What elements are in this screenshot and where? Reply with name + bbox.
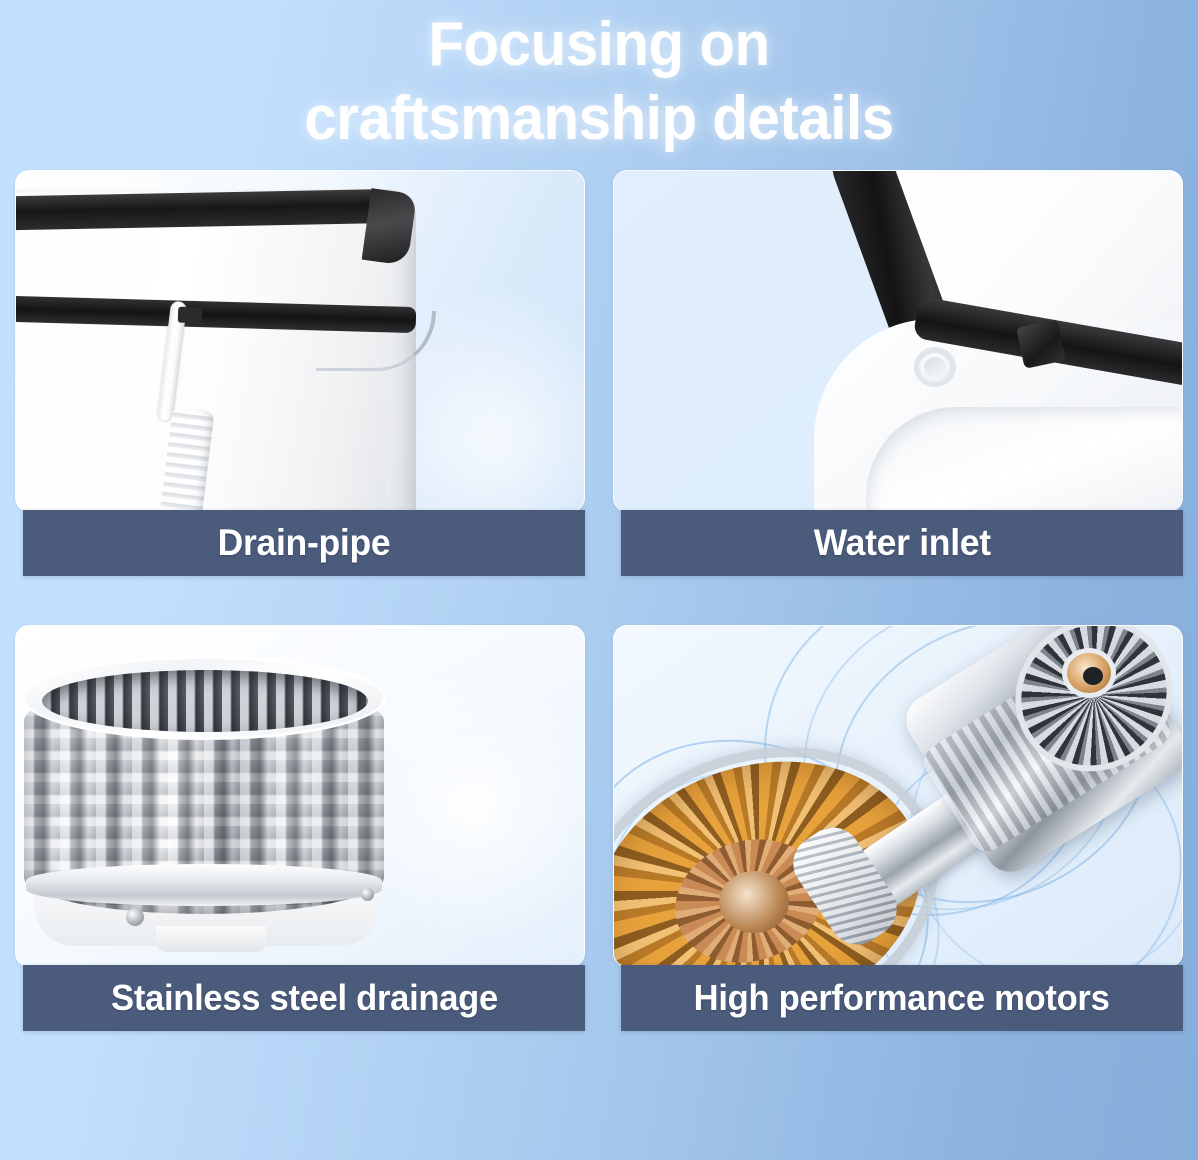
caption-bar-drain-pipe: Drain-pipe [23, 510, 585, 576]
drum-bottom-band [26, 864, 382, 906]
stator-core [719, 871, 789, 933]
page-title: Focusing on craftsmanship details [0, 0, 1198, 156]
caption-label: High performance motors [694, 978, 1110, 1018]
caption-bar-water-inlet: Water inlet [621, 510, 1183, 576]
photo-drain-pipe [15, 170, 585, 512]
drum-screw-right [361, 888, 374, 901]
title-line-1: Focusing on [36, 8, 1162, 82]
caption-bar-stainless-steel-drainage: Stainless steel drainage [23, 965, 585, 1031]
photo-motor [613, 625, 1183, 967]
caption-label: Water inlet [813, 523, 990, 563]
photo-water-inlet [613, 170, 1183, 512]
motor-rotor-end-cap [1062, 648, 1116, 698]
caption-label: Drain-pipe [218, 523, 391, 563]
feature-card-stainless-steel-drainage[interactable]: Stainless steel drainage [15, 625, 585, 1033]
drum-foot-shape [156, 926, 266, 952]
title-line-2: craftsmanship details [36, 82, 1162, 156]
lid-hinge-latch [1016, 319, 1066, 369]
feature-card-high-performance-motors[interactable]: High performance motors [613, 625, 1183, 1033]
caption-label: Stainless steel drainage [111, 978, 498, 1018]
drum-interior-opening [42, 670, 368, 732]
feature-card-grid: Drain-pipe Water inlet [15, 170, 1183, 1033]
water-inlet-port-core [924, 357, 946, 377]
caption-bar-high-performance-motors: High performance motors [621, 965, 1183, 1031]
tub-inner-basin-shape [866, 407, 1183, 512]
feature-card-drain-pipe[interactable]: Drain-pipe [15, 170, 585, 578]
drain-hose-clip [178, 307, 203, 324]
feature-card-water-inlet[interactable]: Water inlet [613, 170, 1183, 578]
photo-stainless-drum [15, 625, 585, 967]
drum-screw-front [126, 908, 144, 926]
